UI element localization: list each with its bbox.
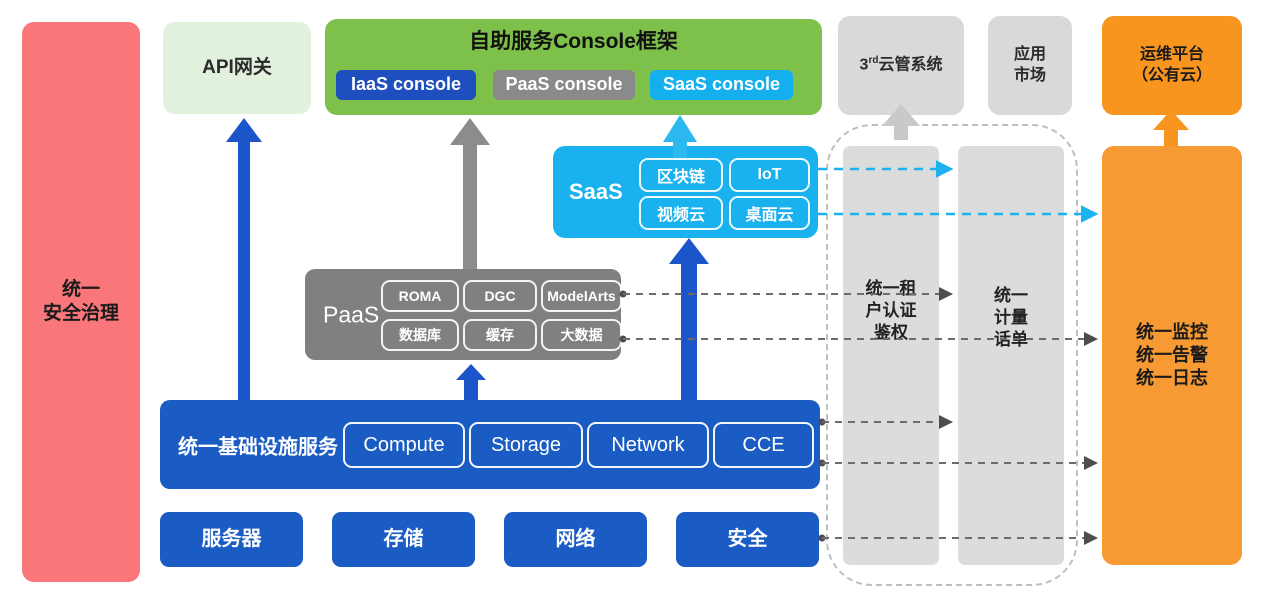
ops-platform-line1: 运维平台 bbox=[1140, 45, 1204, 65]
ops-pillar-line1: 统一监控 bbox=[1136, 321, 1208, 344]
platform-column-billing-caption: 统一 计量 话单 bbox=[958, 285, 1064, 351]
billing-line3: 话单 bbox=[958, 329, 1064, 351]
arrow-ops-pillar-to-ops-platform bbox=[1153, 110, 1189, 146]
paas-item-cache[interactable]: 缓存 bbox=[463, 319, 537, 351]
infra-item-network-label: Network bbox=[611, 434, 684, 457]
billing-line1: 统一 bbox=[958, 285, 1064, 307]
saas-console-chip[interactable]: SaaS console bbox=[650, 70, 793, 100]
paas-item-dgc[interactable]: DGC bbox=[463, 280, 537, 312]
resource-box-network-label: 网络 bbox=[556, 527, 596, 553]
third-party-sup: rd bbox=[868, 55, 878, 66]
platform-column-auth-caption: 统一租 户认证 鉴权 bbox=[843, 278, 939, 344]
unified-ops-pillar: 统一监控 统一告警 统一日志 bbox=[1102, 146, 1242, 565]
ops-pillar-line2: 统一告警 bbox=[1136, 344, 1208, 367]
paas-console-chip[interactable]: PaaS console bbox=[493, 70, 635, 100]
paas-item-database-label: 数据库 bbox=[399, 325, 441, 345]
security-governance-line2: 安全治理 bbox=[43, 302, 119, 326]
infra-item-network[interactable]: Network bbox=[587, 422, 709, 468]
platform-column-billing[interactable] bbox=[958, 146, 1064, 565]
unified-infrastructure-panel: 统一基础设施服务 Compute Storage Network CCE bbox=[160, 400, 820, 489]
third-party-cloud-mgmt-box[interactable]: 3rd云管系统 bbox=[838, 16, 964, 115]
app-market-line2: 市场 bbox=[1014, 66, 1046, 86]
saas-item-video-cloud-label: 视频云 bbox=[657, 201, 705, 225]
saas-item-blockchain-label: 区块链 bbox=[657, 163, 705, 187]
auth-line3: 鉴权 bbox=[843, 322, 939, 344]
saas-item-iot[interactable]: IoT bbox=[729, 158, 810, 192]
infra-item-cce[interactable]: CCE bbox=[713, 422, 814, 468]
third-party-cloud-mgmt-label: 3rd云管系统 bbox=[860, 55, 943, 76]
infra-item-cce-label: CCE bbox=[742, 434, 784, 457]
infra-item-storage[interactable]: Storage bbox=[469, 422, 583, 468]
third-party-suffix: 云管系统 bbox=[878, 56, 942, 73]
app-market-line1: 应用 bbox=[1014, 45, 1046, 65]
resource-box-network[interactable]: 网络 bbox=[504, 512, 647, 567]
billing-line2: 计量 bbox=[958, 307, 1064, 329]
paas-item-dgc-label: DGC bbox=[484, 288, 515, 304]
resource-box-security[interactable]: 安全 bbox=[676, 512, 819, 567]
iaas-console-label: IaaS console bbox=[351, 73, 461, 96]
security-governance-pillar: 统一 安全治理 bbox=[22, 22, 140, 582]
auth-line2: 户认证 bbox=[843, 300, 939, 322]
infra-item-compute[interactable]: Compute bbox=[343, 422, 465, 468]
saas-item-desktop-cloud[interactable]: 桌面云 bbox=[729, 196, 810, 230]
resource-box-security-label: 安全 bbox=[728, 527, 768, 553]
paas-panel: PaaS ROMA DGC ModelArts 数据库 缓存 大数据 bbox=[305, 269, 621, 360]
saas-item-video-cloud[interactable]: 视频云 bbox=[639, 196, 723, 230]
architecture-diagram: 统一 安全治理 API网关 自助服务Console框架 IaaS console… bbox=[0, 0, 1265, 605]
resource-box-server-label: 服务器 bbox=[202, 527, 262, 553]
arrow-infra-to-api-gateway bbox=[226, 118, 262, 400]
paas-item-bigdata-label: 大数据 bbox=[561, 325, 603, 345]
ops-platform-box[interactable]: 运维平台 （公有云） bbox=[1102, 16, 1242, 115]
resource-box-storage[interactable]: 存储 bbox=[332, 512, 475, 567]
infra-item-compute-label: Compute bbox=[363, 434, 444, 457]
arrow-infra-to-saas bbox=[669, 238, 709, 400]
console-framework-title: 自助服务Console框架 bbox=[325, 29, 822, 56]
auth-line1: 统一租 bbox=[843, 278, 939, 300]
ops-pillar-line3: 统一日志 bbox=[1136, 367, 1208, 390]
paas-item-modelarts[interactable]: ModelArts bbox=[541, 280, 622, 312]
saas-panel: SaaS 区块链 IoT 视频云 桌面云 bbox=[553, 146, 818, 238]
arrow-paas-to-console bbox=[450, 118, 490, 269]
paas-panel-label: PaaS bbox=[323, 301, 379, 328]
paas-item-roma[interactable]: ROMA bbox=[381, 280, 459, 312]
app-market-box[interactable]: 应用 市场 bbox=[988, 16, 1072, 115]
saas-item-desktop-cloud-label: 桌面云 bbox=[745, 201, 793, 225]
infra-item-storage-label: Storage bbox=[491, 434, 561, 457]
unified-infrastructure-label: 统一基础设施服务 bbox=[178, 430, 338, 459]
paas-item-database[interactable]: 数据库 bbox=[381, 319, 459, 351]
paas-item-roma-label: ROMA bbox=[399, 288, 442, 304]
resource-box-storage-label: 存储 bbox=[384, 527, 424, 553]
api-gateway-box[interactable]: API网关 bbox=[163, 22, 311, 114]
paas-item-modelarts-label: ModelArts bbox=[547, 288, 615, 304]
arrow-infra-to-paas bbox=[456, 364, 486, 400]
platform-column-auth[interactable] bbox=[843, 146, 939, 565]
paas-item-bigdata[interactable]: 大数据 bbox=[541, 319, 622, 351]
paas-console-label: PaaS console bbox=[505, 73, 622, 96]
iaas-console-chip[interactable]: IaaS console bbox=[336, 70, 476, 100]
security-governance-line1: 统一 bbox=[62, 278, 100, 302]
saas-panel-label: SaaS bbox=[569, 179, 623, 205]
ops-platform-line2: （公有云） bbox=[1132, 66, 1212, 86]
saas-console-label: SaaS console bbox=[663, 73, 780, 96]
saas-item-blockchain[interactable]: 区块链 bbox=[639, 158, 723, 192]
paas-item-cache-label: 缓存 bbox=[486, 325, 514, 345]
saas-item-iot-label: IoT bbox=[758, 166, 782, 184]
resource-box-server[interactable]: 服务器 bbox=[160, 512, 303, 567]
api-gateway-label: API网关 bbox=[202, 56, 272, 80]
console-framework-panel: 自助服务Console框架 IaaS console PaaS console … bbox=[325, 19, 822, 115]
